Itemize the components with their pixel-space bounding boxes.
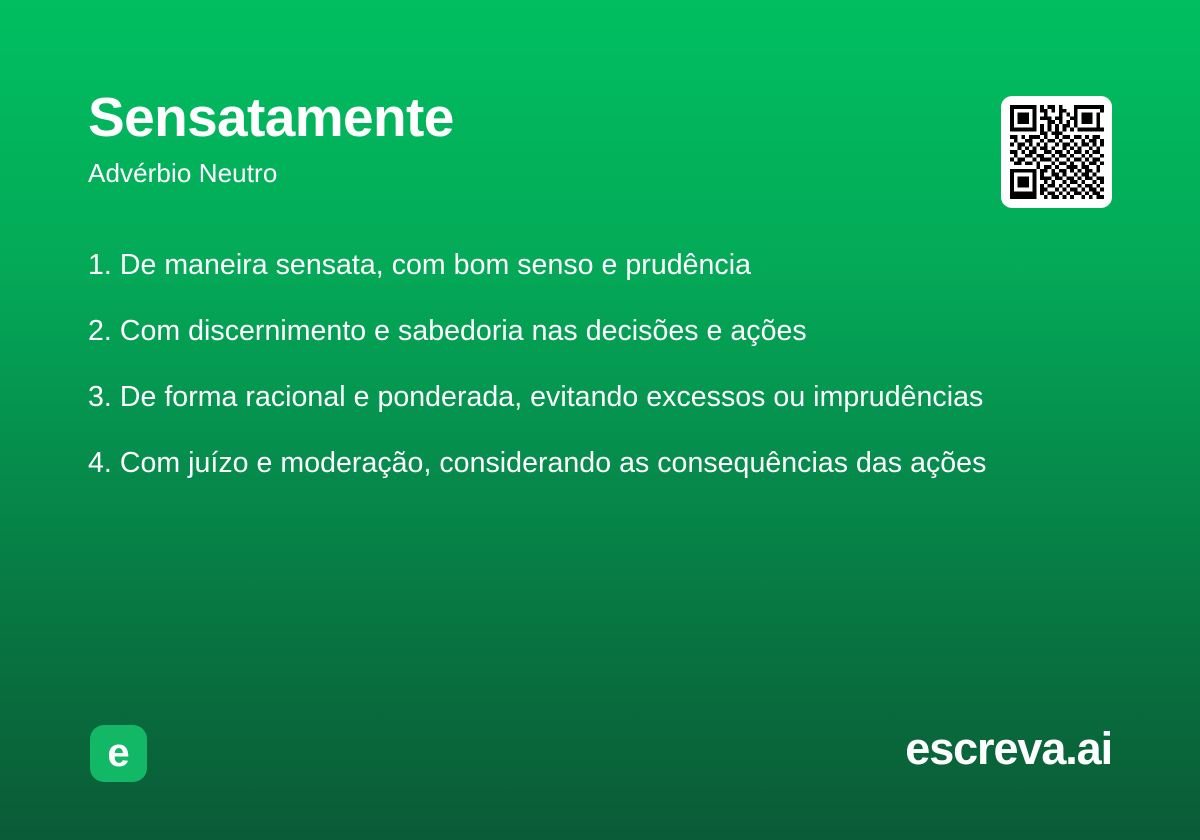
qr-code-panel[interactable] xyxy=(1001,96,1112,208)
page-title: Sensatamente xyxy=(88,88,1112,147)
qr-code-icon xyxy=(1010,105,1104,199)
dictionary-card: Sensatamente Advérbio Neutro 1. De manei… xyxy=(0,0,1200,840)
brand-logo-letter: e xyxy=(107,733,129,773)
word-class-subtitle: Advérbio Neutro xyxy=(88,158,1112,189)
definitions-list: 1. De maneira sensata, com bom senso e p… xyxy=(88,246,1078,482)
brand-logo-badge[interactable]: e xyxy=(90,725,147,782)
definition-item: 2. Com discernimento e sabedoria nas dec… xyxy=(88,312,1078,350)
card-header: Sensatamente Advérbio Neutro xyxy=(88,88,1112,190)
definition-item: 3. De forma racional e ponderada, evitan… xyxy=(88,378,1078,416)
definition-item: 1. De maneira sensata, com bom senso e p… xyxy=(88,246,1078,284)
definition-item: 4. Com juízo e moderação, considerando a… xyxy=(88,444,1078,482)
brand-wordmark: escreva.ai xyxy=(905,723,1112,775)
